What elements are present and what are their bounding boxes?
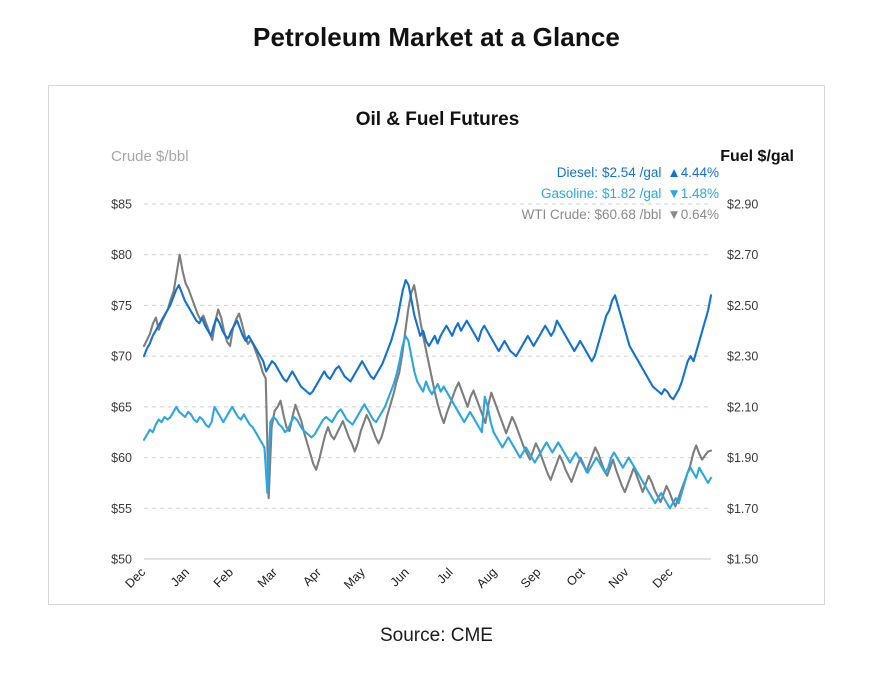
x-axis-tick-group: Sep — [518, 565, 544, 591]
chart-card: Oil & Fuel Futures Crude $/bbl Fuel $/ga… — [48, 85, 825, 605]
y-axis-tick-right: $2.30 — [727, 350, 758, 364]
x-axis-tick-group: Nov — [606, 565, 632, 591]
y-axis-tick-left: $60 — [111, 451, 132, 465]
page-title: Petroleum Market at a Glance — [0, 22, 873, 53]
line-chart-svg: $50$55$60$65$70$75$80$85$1.50$1.70$1.90$… — [49, 86, 826, 606]
y-axis-tick-right: $2.50 — [727, 299, 758, 313]
y-axis-tick-right: $1.70 — [727, 502, 758, 516]
y-axis-tick-left: $80 — [111, 248, 132, 262]
y-axis-tick-right: $2.70 — [727, 248, 758, 262]
y-axis-tick-right: $2.10 — [727, 400, 758, 414]
y-axis-tick-left: $75 — [111, 299, 132, 313]
y-axis-tick-left: $50 — [111, 553, 132, 567]
x-axis-tick: Apr — [300, 565, 324, 589]
series-line-diesel — [144, 280, 711, 399]
x-axis-tick: Dec — [122, 565, 148, 591]
x-axis-tick: Jun — [388, 565, 412, 589]
x-axis-tick: Mar — [255, 565, 280, 590]
x-axis-tick-group: Feb — [211, 565, 236, 590]
y-axis-tick-left: $65 — [111, 400, 132, 414]
y-axis-tick-right: $1.50 — [727, 553, 758, 567]
x-axis-tick-group: Dec — [650, 565, 676, 591]
x-axis-tick-group: Dec — [122, 565, 148, 591]
x-axis-tick: Oct — [564, 565, 588, 589]
x-axis-tick-group: Apr — [300, 565, 324, 589]
source-caption: Source: CME — [0, 625, 873, 647]
x-axis-tick-group: Aug — [474, 565, 500, 591]
plot-area: $50$55$60$65$70$75$80$85$1.50$1.70$1.90$… — [49, 86, 826, 606]
x-axis-tick: Jan — [168, 565, 192, 589]
x-axis-tick-group: Jun — [388, 565, 412, 589]
series-line-wti-crude — [144, 255, 711, 507]
y-axis-tick-right: $2.90 — [727, 198, 758, 212]
x-axis-tick: Dec — [650, 565, 676, 591]
x-axis-tick: Feb — [211, 565, 236, 590]
x-axis-tick-group: Jan — [168, 565, 192, 589]
y-axis-tick-left: $70 — [111, 350, 132, 364]
y-axis-tick-right: $1.90 — [727, 451, 758, 465]
x-axis-tick-group: Mar — [255, 565, 280, 590]
x-axis-tick: Nov — [606, 565, 632, 591]
x-axis-tick-group: Oct — [564, 565, 588, 589]
y-axis-tick-left: $85 — [111, 198, 132, 212]
x-axis-tick: Jul — [435, 565, 456, 586]
x-axis-tick: Aug — [474, 565, 500, 591]
y-axis-tick-left: $55 — [111, 502, 132, 516]
x-axis-tick: Sep — [518, 565, 544, 591]
x-axis-tick-group: Jul — [435, 565, 456, 586]
x-axis-tick: May — [341, 565, 368, 592]
x-axis-tick-group: May — [341, 565, 368, 592]
